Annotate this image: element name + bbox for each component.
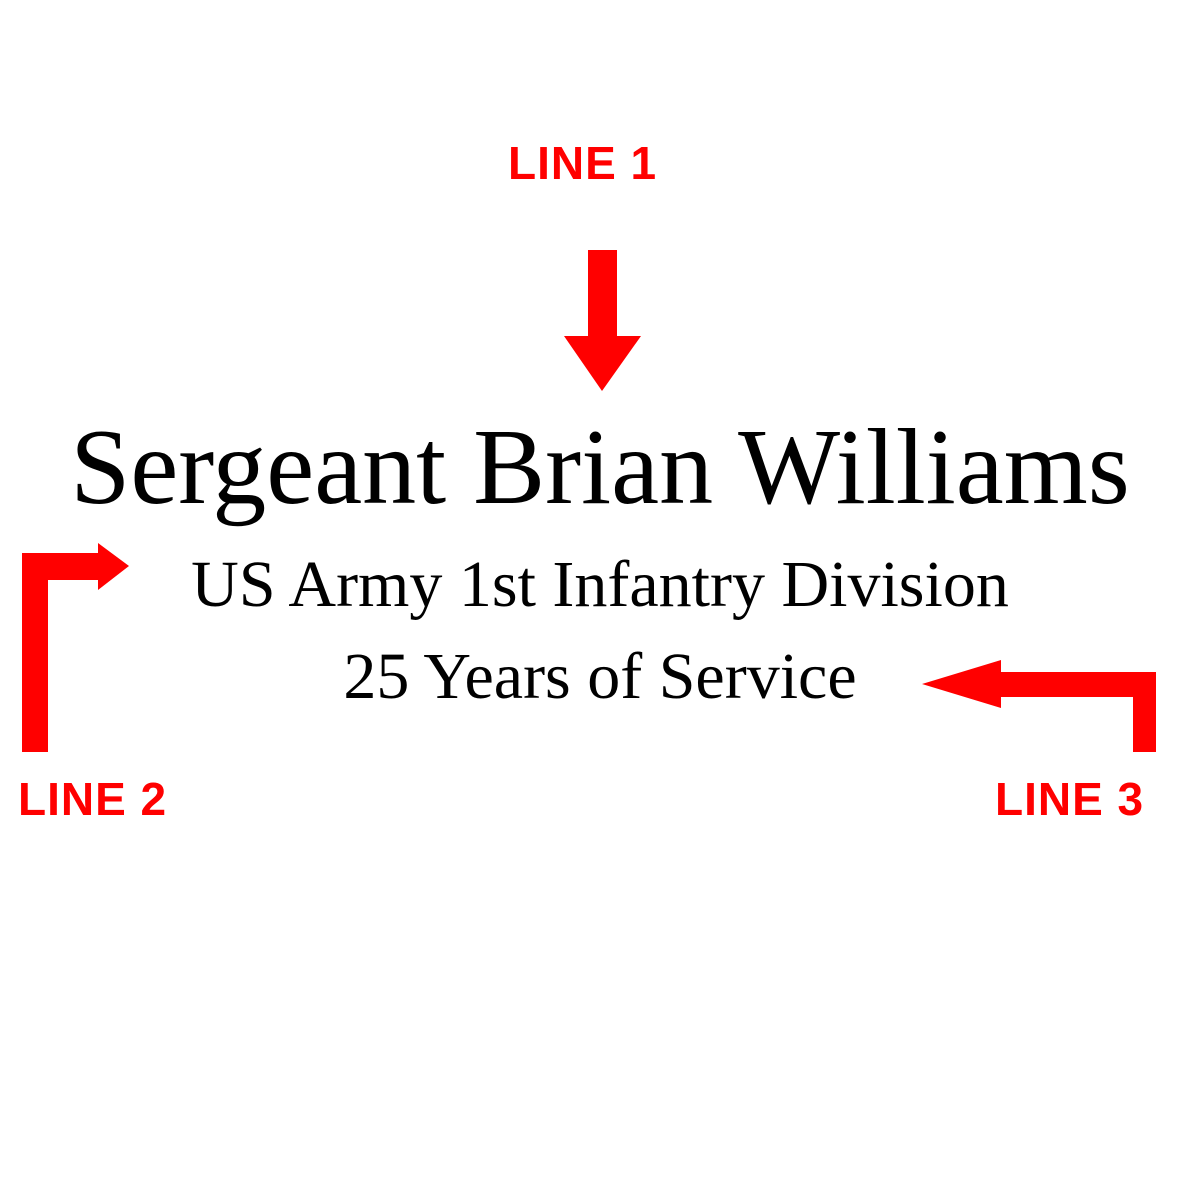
callout-label-line-2: LINE 2 xyxy=(18,772,167,826)
annotation-canvas: LINE 1 LINE 2 LINE 3 Sergeant Brian Will… xyxy=(0,0,1200,1200)
arrow-down-icon xyxy=(564,250,641,391)
callout-label-line-1: LINE 1 xyxy=(508,136,657,190)
callout-label-line-3: LINE 3 xyxy=(995,772,1144,826)
engraving-line-1-text: Sergeant Brian Williams xyxy=(0,414,1200,522)
engraving-line-2-text: US Army 1st Infantry Division xyxy=(0,552,1200,618)
engraving-line-3-text: 25 Years of Service xyxy=(0,644,1200,710)
